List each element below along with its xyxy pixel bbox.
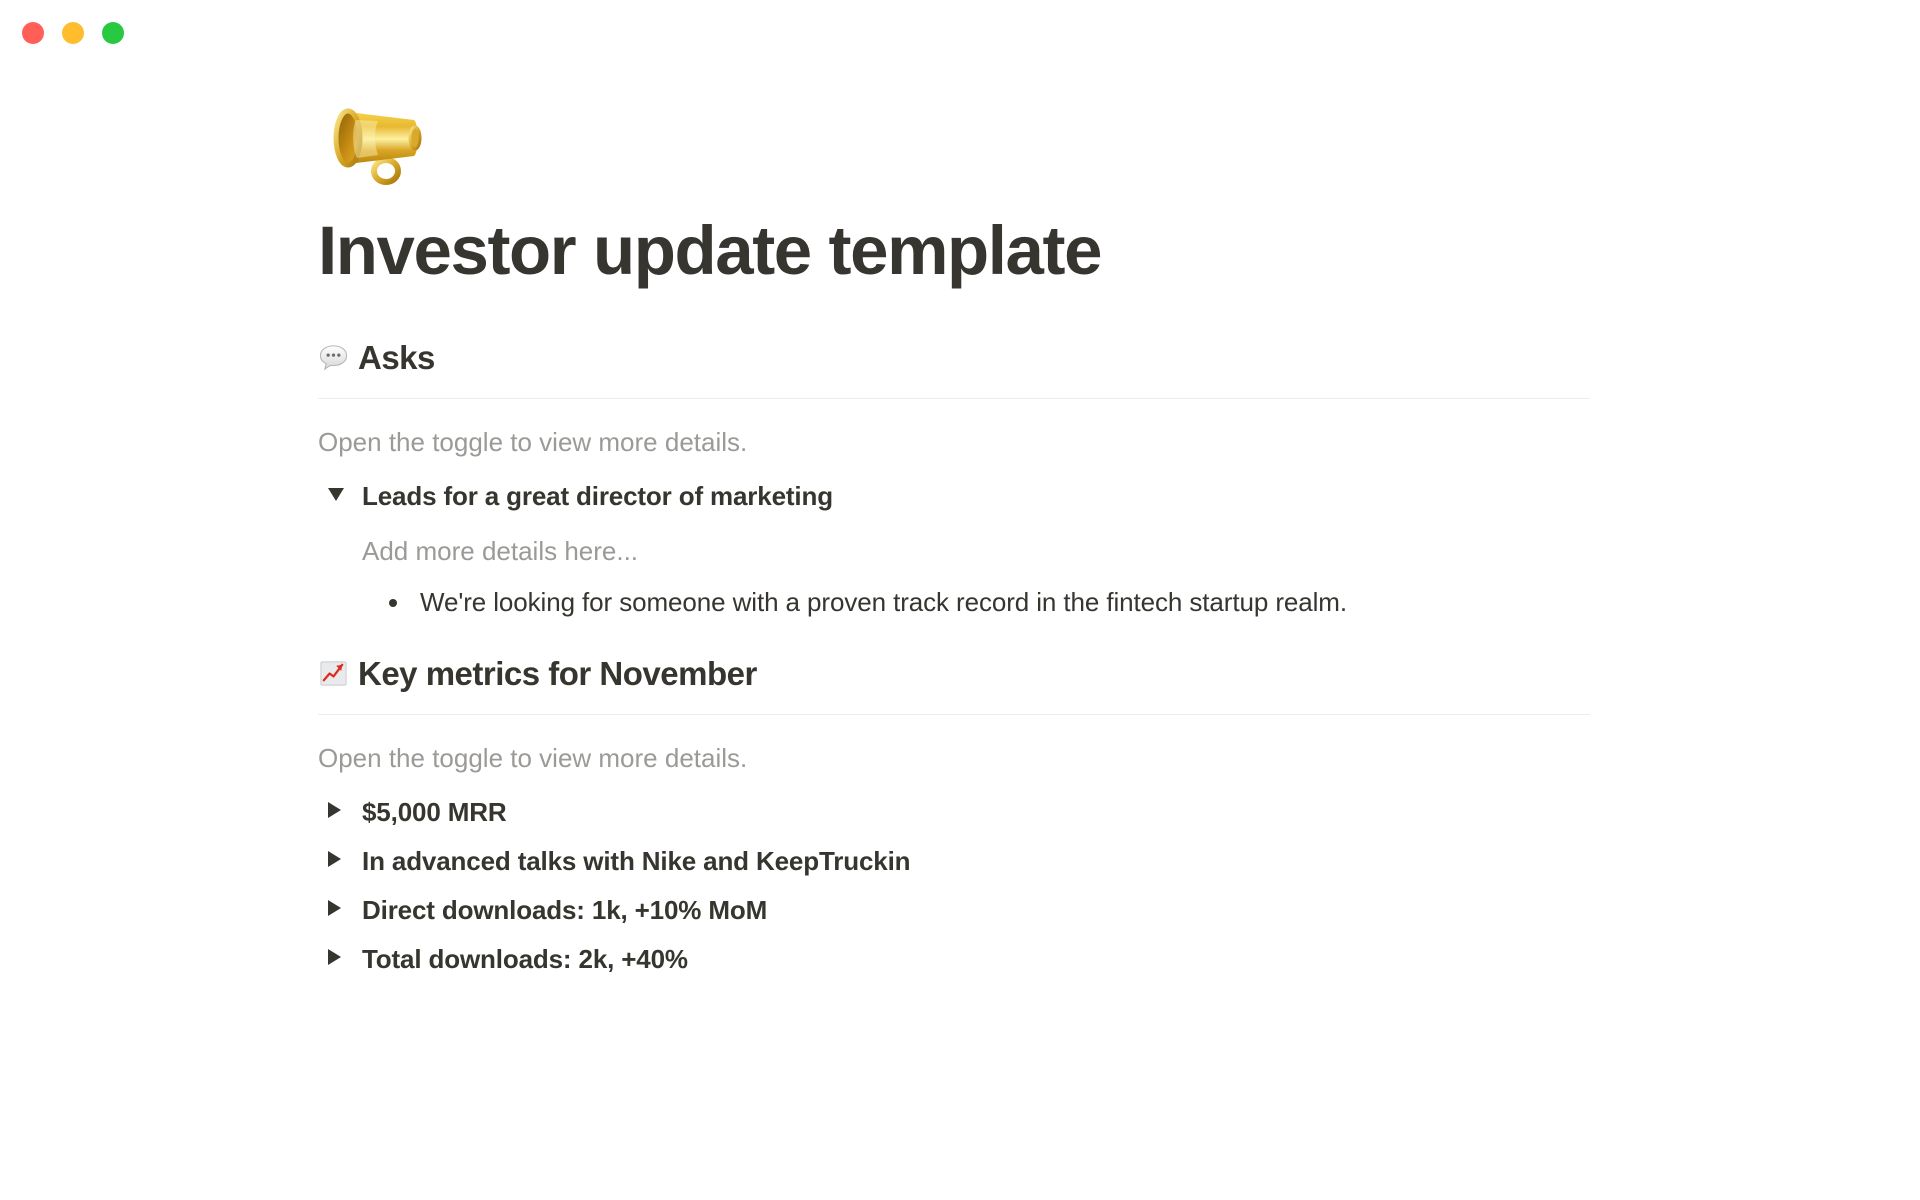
chevron-right-icon[interactable] — [328, 842, 362, 867]
document-content: Investor update template — [318, 62, 1658, 984]
list-item[interactable]: We're looking for someone with a proven … — [380, 578, 1658, 627]
page-title[interactable]: Investor update template — [318, 214, 1658, 289]
list-item-text: We're looking for someone with a proven … — [406, 583, 1347, 622]
toggle-mrr[interactable]: $5,000 MRR — [328, 788, 1658, 837]
toggle-child-placeholder-text[interactable]: Add more details here... — [362, 527, 1658, 576]
toggle-label: Leads for a great director of marketing — [362, 477, 833, 516]
toggle-label: $5,000 MRR — [362, 793, 506, 832]
chart-increasing-icon — [318, 658, 349, 689]
toggle-children-leads: Add more details here... We're looking f… — [362, 527, 1658, 627]
chevron-right-icon[interactable] — [328, 891, 362, 916]
spacer — [318, 633, 1658, 653]
section-heading-asks[interactable]: Asks — [318, 337, 1658, 384]
chevron-down-icon[interactable] — [328, 477, 362, 501]
window-titlebar — [0, 0, 1920, 62]
minimize-window-button[interactable] — [62, 22, 84, 44]
app-window: Investor update template — [0, 0, 1920, 1200]
section-divider — [318, 398, 1590, 399]
section-asks: Asks Open the toggle to view more detail… — [318, 337, 1658, 627]
toggle-label: Direct downloads: 1k, +10% MoM — [362, 891, 767, 930]
section-heading-asks-label: Asks — [358, 337, 435, 378]
toggle-label: Total downloads: 2k, +40% — [362, 940, 688, 979]
megaphone-emoji[interactable] — [318, 72, 1658, 200]
asks-intro-text[interactable]: Open the toggle to view more details. — [318, 419, 1658, 466]
section-divider — [318, 714, 1590, 715]
toggle-leads-director-marketing[interactable]: Leads for a great director of marketing — [328, 472, 1658, 521]
bullet-icon — [380, 583, 406, 607]
document-page: Investor update template — [0, 62, 1920, 990]
chevron-right-icon[interactable] — [328, 793, 362, 818]
toggle-direct-downloads[interactable]: Direct downloads: 1k, +10% MoM — [328, 886, 1658, 935]
speech-balloon-icon — [318, 342, 349, 373]
traffic-light-controls — [22, 22, 124, 44]
close-window-button[interactable] — [22, 22, 44, 44]
toggle-total-downloads[interactable]: Total downloads: 2k, +40% — [328, 935, 1658, 984]
chevron-right-icon[interactable] — [328, 940, 362, 965]
section-key-metrics: Key metrics for November Open the toggle… — [318, 653, 1658, 984]
section-heading-key-metrics-label: Key metrics for November — [358, 653, 757, 694]
toggle-advanced-talks[interactable]: In advanced talks with Nike and KeepTruc… — [328, 837, 1658, 886]
section-heading-key-metrics[interactable]: Key metrics for November — [318, 653, 1658, 700]
key-metrics-intro-text[interactable]: Open the toggle to view more details. — [318, 735, 1658, 782]
maximize-window-button[interactable] — [102, 22, 124, 44]
toggle-label: In advanced talks with Nike and KeepTruc… — [362, 842, 910, 881]
